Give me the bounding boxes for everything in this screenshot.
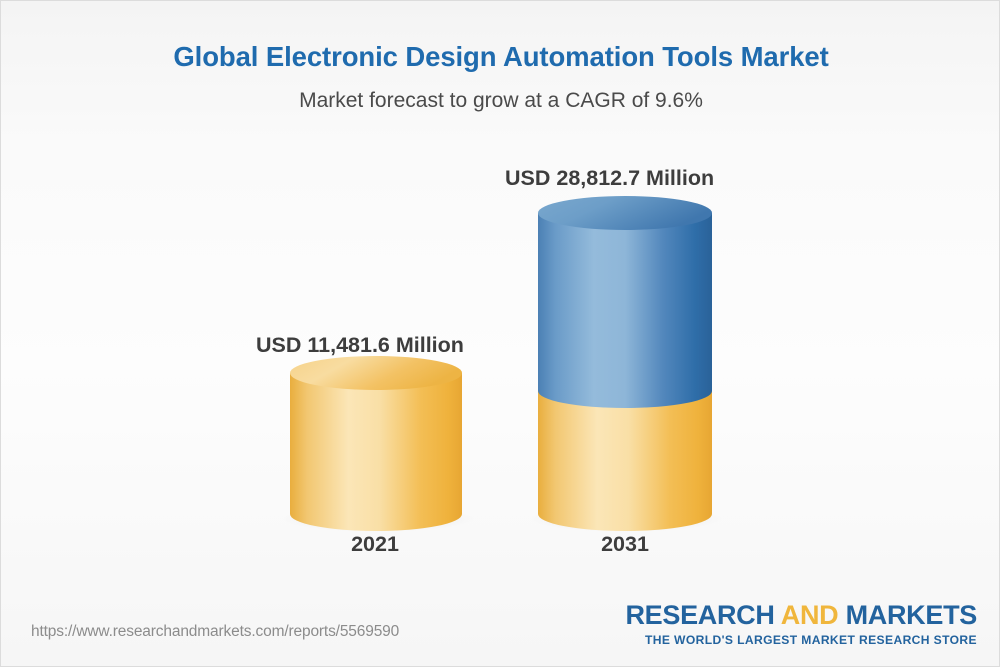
bar-2031-growth-segment: [538, 213, 712, 408]
chart-canvas: Global Electronic Design Automation Tool…: [0, 0, 1000, 667]
bar-2031: [530, 196, 722, 532]
bar-2031-top-cap: [538, 196, 712, 230]
brand-word-research: RESEARCH: [625, 600, 780, 630]
value-label-2021: USD 11,481.6 Million: [256, 333, 464, 358]
brand-word-markets: MARKETS: [838, 600, 977, 630]
bar-2021-top-cap: [290, 356, 462, 390]
brand-logo[interactable]: RESEARCH AND MARKETS THE WORLD'S LARGEST…: [625, 602, 977, 647]
cylinder-bars-svg: [1, 1, 1000, 601]
plot-area: USD 11,481.6 Million USD 28,812.7 Millio…: [1, 1, 1000, 601]
bar-2031-base-segment: [538, 391, 712, 531]
brand-word-and: AND: [781, 600, 839, 630]
category-label-2031: 2031: [535, 532, 715, 557]
brand-tagline: THE WORLD'S LARGEST MARKET RESEARCH STOR…: [625, 633, 977, 648]
bar-2021: [282, 356, 474, 532]
source-url[interactable]: https://www.researchandmarkets.com/repor…: [31, 623, 399, 641]
brand-wordmark: RESEARCH AND MARKETS: [625, 602, 977, 630]
value-label-2031: USD 28,812.7 Million: [505, 166, 714, 191]
bar-2021-body: [290, 373, 462, 531]
category-label-2021: 2021: [285, 532, 465, 557]
